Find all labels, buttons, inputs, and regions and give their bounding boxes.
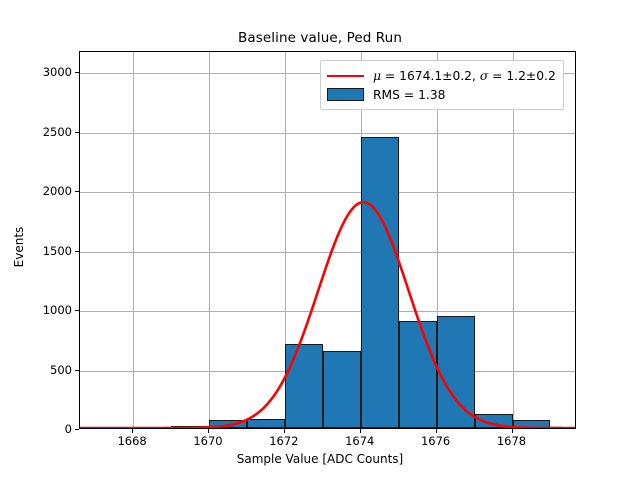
x-tick-mark: [208, 429, 209, 433]
y-tick-label: 2000: [14, 184, 72, 198]
x-tick-label: 1678: [477, 434, 547, 448]
x-tick-label: 1670: [173, 434, 243, 448]
y-tick-label: 500: [14, 363, 72, 377]
legend-line-swatch-icon: [327, 69, 364, 83]
y-tick-label: 3000: [14, 65, 72, 79]
y-tick-label: 2500: [14, 125, 72, 139]
y-tick-label: 1500: [14, 244, 72, 258]
sigma-value: = 1.2±0.2: [488, 69, 556, 83]
x-tick-label: 1674: [325, 434, 395, 448]
chart-title: Baseline value, Ped Run: [0, 30, 640, 46]
legend-label-fit: μ = 1674.1±0.2, σ = 1.2±0.2: [373, 69, 556, 83]
figure-canvas: Baseline value, Ped Run Events Sample Va…: [0, 0, 640, 480]
x-tick-mark: [360, 429, 361, 433]
y-tick-mark: [75, 429, 79, 430]
legend-patch-swatch-icon: [327, 88, 364, 101]
legend-label-rms: RMS = 1.38: [373, 88, 445, 102]
x-tick-label: 1668: [97, 434, 167, 448]
mu-symbol: μ: [373, 69, 381, 83]
x-tick-mark: [436, 429, 437, 433]
x-tick-label: 1676: [401, 434, 471, 448]
x-tick-label: 1672: [249, 434, 319, 448]
y-tick-label: 1000: [14, 303, 72, 317]
x-tick-mark: [284, 429, 285, 433]
chart-legend: μ = 1674.1±0.2, σ = 1.2±0.2 RMS = 1.38: [320, 60, 564, 110]
sigma-symbol: σ: [480, 69, 488, 83]
x-tick-mark: [132, 429, 133, 433]
y-tick-label: 0: [14, 422, 72, 436]
mu-value: = 1674.1±0.2,: [381, 69, 480, 83]
legend-item-rms: RMS = 1.38: [327, 85, 556, 104]
x-tick-mark: [512, 429, 513, 433]
legend-item-fit: μ = 1674.1±0.2, σ = 1.2±0.2: [327, 66, 556, 85]
x-axis-label: Sample Value [ADC Counts]: [0, 452, 640, 466]
